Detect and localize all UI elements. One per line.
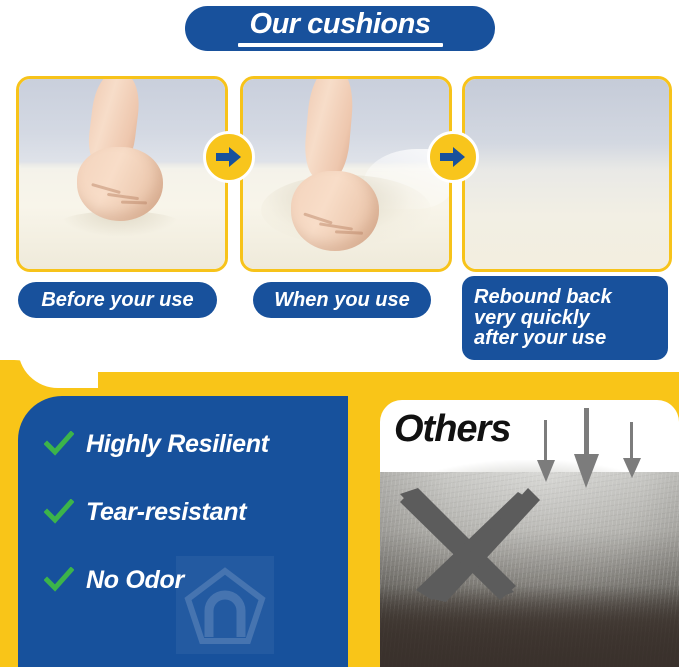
others-comparison-card: Others After one-month use, the foam bec…: [380, 400, 679, 667]
photo-knuckle-line: [335, 230, 363, 234]
page-title: Our cushions: [250, 10, 431, 41]
photo-fist: [77, 147, 163, 221]
step-arrow-2: [427, 131, 479, 183]
feature-label: Highly Resilient: [86, 430, 269, 459]
photo-foam-rebounded: [465, 79, 669, 269]
photo-scene-before: [19, 79, 225, 269]
photo-knuckle-line: [121, 201, 147, 205]
title-underline: [238, 43, 443, 47]
others-title: Others: [394, 408, 510, 451]
check-icon: [44, 567, 74, 593]
feature-label: No Odor: [86, 566, 184, 595]
step-label-before: Before your use: [18, 282, 217, 318]
house-pentagon-logo-icon: [183, 563, 267, 647]
brush-x-icon: [388, 486, 548, 606]
step-label-after-line2: very quickly: [474, 308, 590, 329]
feature-item-highly-resilient: Highly Resilient: [44, 426, 344, 462]
infographic-page: Our cushions: [0, 0, 679, 667]
step-label-after-line3: after your use: [474, 328, 606, 349]
photo-knuckle-line: [303, 212, 332, 224]
step-label-after: Rebound back very quickly after your use: [462, 276, 668, 360]
photo-knuckle-line: [91, 183, 121, 194]
photo-scene-during: [243, 79, 449, 269]
step-photo-after: [462, 76, 672, 272]
page-title-banner: Our cushions: [185, 6, 495, 51]
step-photo-before: [16, 76, 228, 272]
step-label-after-line1: Rebound back: [474, 287, 612, 308]
check-icon: [44, 431, 74, 457]
photo-fist: [291, 171, 379, 251]
feature-label: Tear-resistant: [86, 498, 246, 527]
down-arrow-icon: [530, 408, 650, 490]
feature-item-tear-resistant: Tear-resistant: [44, 494, 344, 530]
step-photo-during: [240, 76, 452, 272]
brand-watermark: [176, 556, 274, 654]
photo-knuckle-line: [107, 193, 139, 200]
photo-scene-after: [465, 79, 669, 269]
right-arrow-icon: [216, 146, 242, 168]
step-label-during: When you use: [253, 282, 431, 318]
step-arrow-1: [203, 131, 255, 183]
right-arrow-icon: [440, 146, 466, 168]
check-icon: [44, 499, 74, 525]
